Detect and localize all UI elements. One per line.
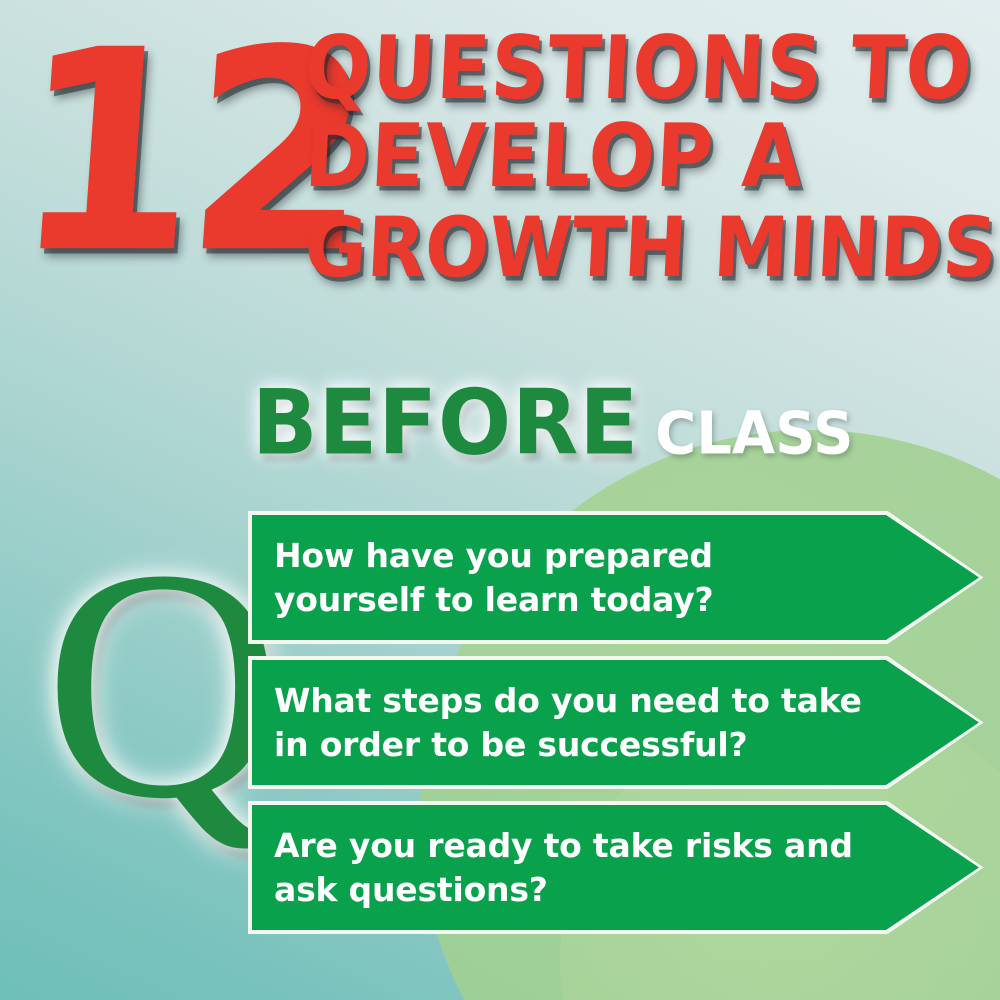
section-heading: Before Class bbox=[252, 382, 853, 468]
headline-text: Questions to Develop a Growth Mindset bbox=[305, 26, 995, 290]
title-block: 12 Questions to Develop a Growth Mindset bbox=[0, 0, 1000, 320]
question-banner-text: What steps do you need to take in order … bbox=[274, 679, 874, 767]
headline-line-1: Questions to bbox=[303, 21, 998, 117]
decorative-q-letter: Q bbox=[44, 520, 282, 850]
question-banner-list: How have you prepared yourself to learn … bbox=[248, 511, 984, 946]
question-banner: What steps do you need to take in order … bbox=[248, 656, 984, 789]
question-banner: How have you prepared yourself to learn … bbox=[248, 511, 984, 644]
question-banner-text: Are you ready to take risks and ask ques… bbox=[274, 824, 874, 912]
section-heading-sub: Class bbox=[655, 405, 853, 464]
infographic-poster: 12 Questions to Develop a Growth Mindset… bbox=[0, 0, 1000, 1000]
section-heading-main: Before bbox=[252, 378, 639, 468]
question-banner-text: How have you prepared yourself to learn … bbox=[274, 534, 874, 622]
headline-line-3: Growth Mindset bbox=[303, 201, 1000, 295]
headline-line-2: Develop a bbox=[303, 109, 998, 205]
question-banner: Are you ready to take risks and ask ques… bbox=[248, 801, 984, 934]
